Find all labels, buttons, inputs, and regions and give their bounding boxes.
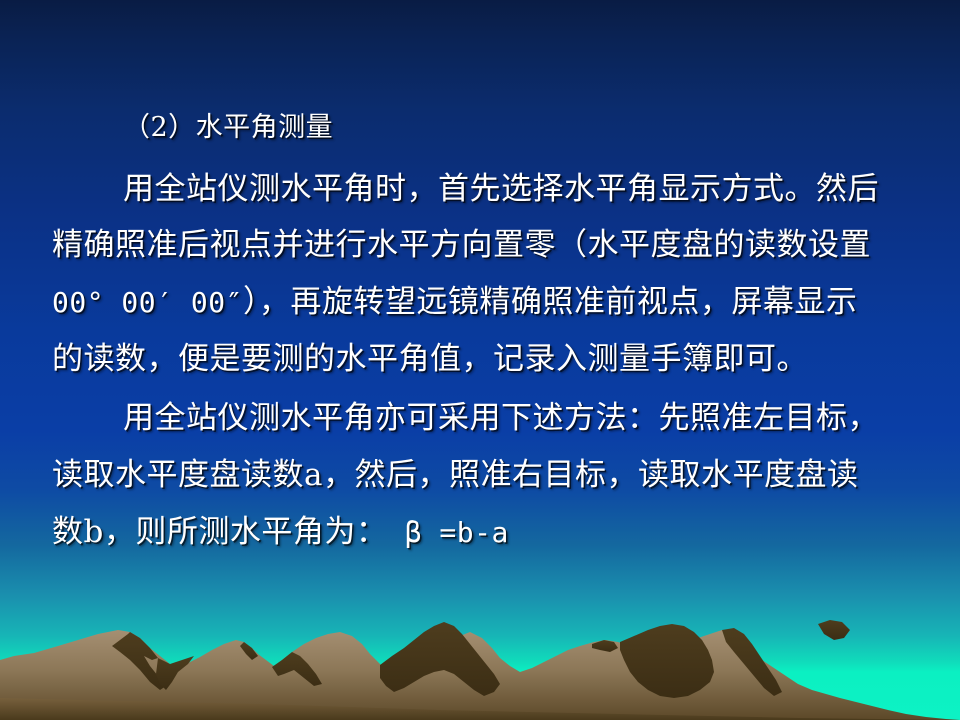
paragraph1-line2: 精确照准后视点并进行水平方向置零（水平度盘的读数设置 <box>52 219 871 264</box>
paragraph1-line3-text: ），再旋转望远镜精确照准前视点，屏幕显示 <box>243 284 858 320</box>
mountain-range-illustration <box>0 560 960 720</box>
paragraph1-line1: 用全站仪测水平角时，首先选择水平角显示方式。然后 <box>123 163 879 208</box>
paragraph2-line3: 数b，则所测水平角为： β =b-a <box>52 506 509 551</box>
horizontal-angle-formula: β =b-a <box>387 516 509 549</box>
angle-reading-value: 00° 00′ 00″ <box>52 286 243 319</box>
section-heading: （2）水平角测量 <box>123 105 333 144</box>
paragraph1-line4: 的读数，便是要测的水平角值，记录入测量手簿即可。 <box>52 333 808 378</box>
paragraph2-line1: 用全站仪测水平角亦可采用下述方法：先照准左目标， <box>123 392 879 437</box>
paragraph2-line3-text: 数b，则所测水平角为： <box>52 514 387 550</box>
mountain-shadow-right3 <box>818 620 850 640</box>
slide-canvas: （2）水平角测量 用全站仪测水平角时，首先选择水平角显示方式。然后 精确照准后视… <box>0 0 960 720</box>
paragraph1-line3: 00° 00′ 00″），再旋转望远镜精确照准前视点，屏幕显示 <box>52 276 857 321</box>
paragraph2-line2: 读取水平度盘读数a，然后，照准右目标，读取水平度盘读 <box>52 449 858 494</box>
